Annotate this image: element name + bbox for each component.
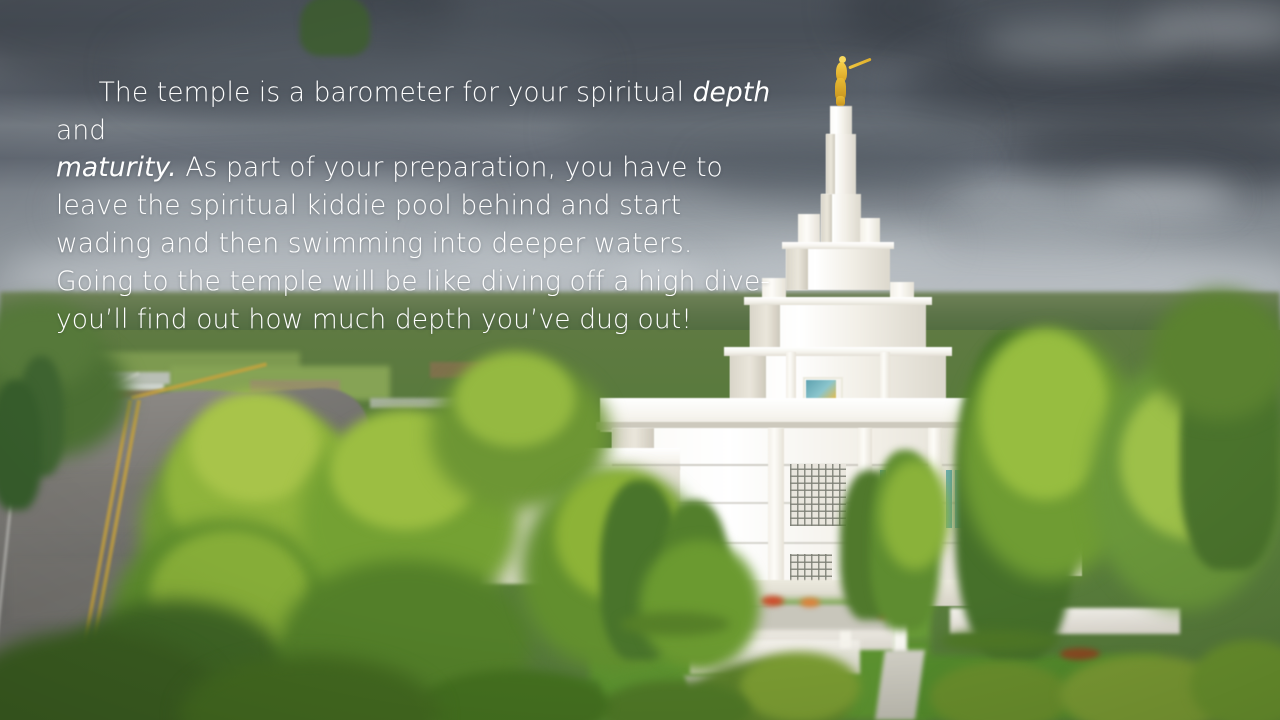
temple-pilaster bbox=[768, 428, 784, 588]
quote-leading-space bbox=[90, 77, 99, 108]
conifer-tree bbox=[0, 380, 42, 510]
quote-segment-1: The temple is a barometer for your spiri… bbox=[99, 77, 693, 108]
flower-bed bbox=[1060, 648, 1100, 660]
cloud bbox=[1090, 185, 1240, 211]
flower-bed bbox=[800, 598, 820, 607]
quote-emphasis-maturity: maturity. bbox=[56, 152, 177, 183]
temple-lattice-screen bbox=[790, 464, 846, 526]
spire-shaft-shadow bbox=[826, 134, 835, 198]
shrub bbox=[740, 652, 860, 720]
angel-moroni-arm bbox=[848, 58, 872, 70]
hedge bbox=[940, 630, 1060, 652]
tree bbox=[640, 540, 760, 670]
tower-tier-1-cap bbox=[782, 242, 894, 249]
spire-shaft-shadow bbox=[821, 194, 832, 248]
flower-bed bbox=[760, 596, 784, 606]
quote-text: The temple is a barometer for your spiri… bbox=[56, 36, 776, 376]
tree-highlight bbox=[190, 392, 320, 502]
tower-tier-1-shadow bbox=[786, 246, 808, 290]
tree bbox=[1150, 290, 1280, 420]
quote-emphasis-depth: depth bbox=[693, 77, 771, 108]
tree-highlight bbox=[880, 460, 950, 570]
angel-moroni-base bbox=[836, 96, 845, 106]
spire-cap bbox=[830, 106, 852, 136]
presentation-slide: The temple is a barometer for your spiri… bbox=[0, 0, 1280, 720]
hedge bbox=[620, 612, 730, 636]
